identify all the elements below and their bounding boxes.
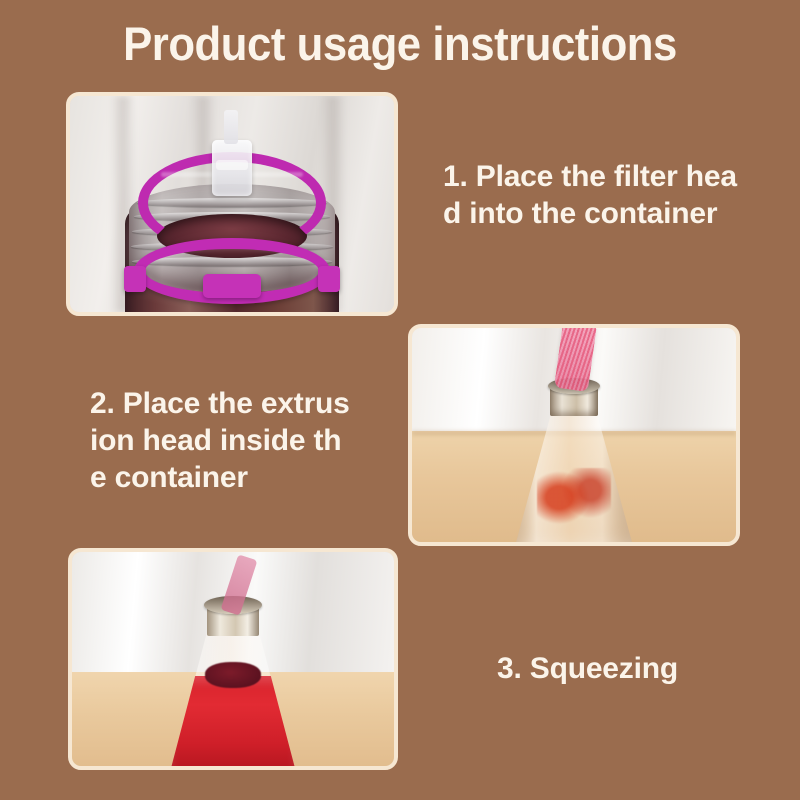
infographic-page: Product usage instructions 1. Place the … — [0, 0, 800, 800]
step-1-caption: 1. Place the filter hea d into the conta… — [443, 158, 763, 232]
filter-head-tab-bottom — [203, 274, 261, 298]
step-2-caption-line-2: ion head inside th — [90, 422, 370, 459]
step-3-photo — [72, 552, 394, 766]
step-1-photo — [70, 96, 394, 312]
step-1-caption-line-2: d into the container — [443, 195, 763, 232]
step-3-caption: 3. Squeezing — [497, 650, 777, 687]
filter-head-tab-right — [318, 266, 340, 292]
step-2-caption-line-3: e container — [90, 459, 370, 496]
step-2-photo — [412, 328, 736, 542]
step-3-photo-panel — [68, 548, 398, 770]
step-1-photo-panel — [66, 92, 398, 316]
filter-head-tab-left — [124, 266, 146, 292]
fruit-pulp — [205, 662, 261, 688]
bottle-label — [537, 468, 611, 542]
step-3-caption-line-1: 3. Squeezing — [497, 650, 777, 687]
page-title: Product usage instructions — [28, 16, 772, 72]
step-2-caption-line-1: 2. Place the extrus — [90, 385, 370, 422]
step-1-caption-line-1: 1. Place the filter hea — [443, 158, 763, 195]
filter-spout — [212, 140, 252, 196]
step-2-caption: 2. Place the extrus ion head inside th e… — [90, 385, 370, 496]
step-2-photo-panel — [408, 324, 740, 546]
